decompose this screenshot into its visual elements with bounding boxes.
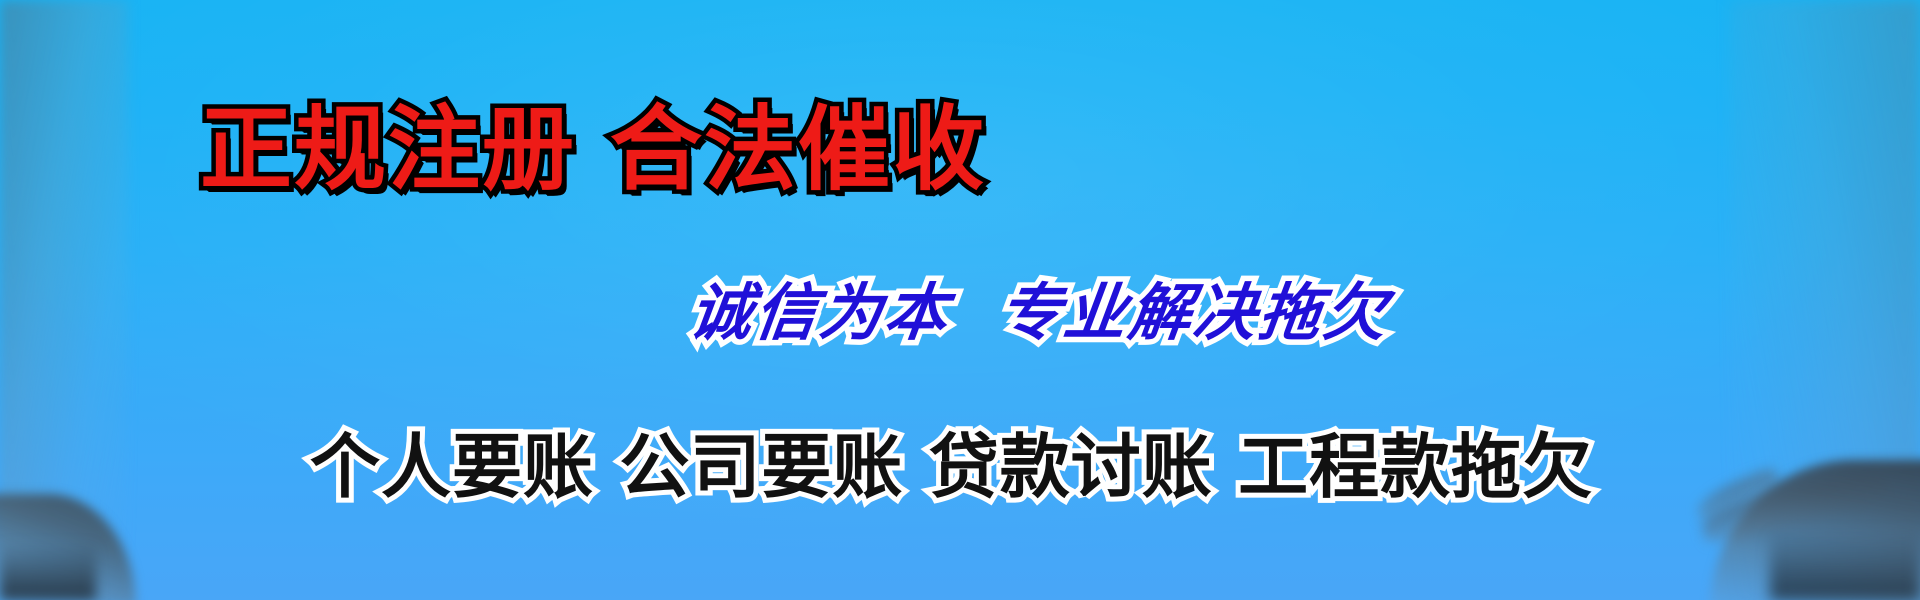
banner-services-list: 个人要账 公司要账 贷款讨账 工程款拖欠: [310, 432, 1593, 502]
text-layer: 正规注册 合法催收 诚信为本 专业解决拖欠 个人要账 公司要账 贷款讨账 工程款…: [0, 0, 1920, 600]
promo-banner: 正规注册 合法催收 诚信为本 专业解决拖欠 个人要账 公司要账 贷款讨账 工程款…: [0, 0, 1920, 600]
banner-headline: 正规注册 合法催收: [200, 104, 986, 196]
banner-slogan: 诚信为本 专业解决拖欠: [686, 282, 1393, 344]
